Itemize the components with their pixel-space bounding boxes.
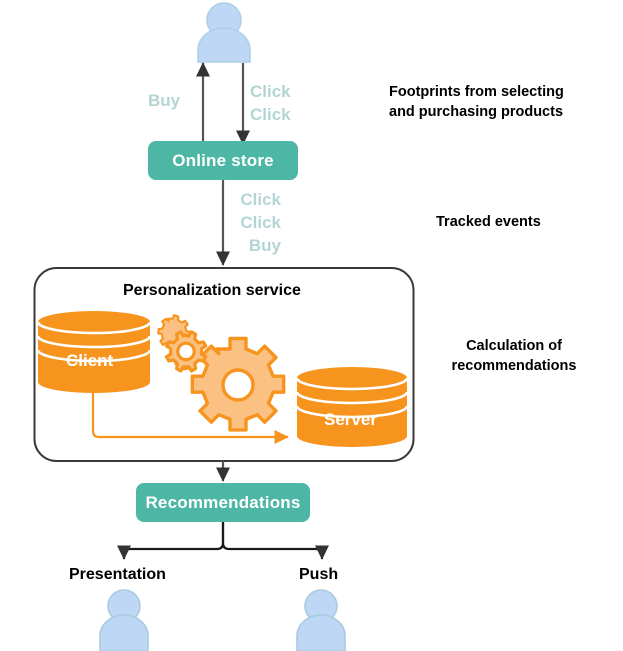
arrow-to-presentation: [124, 521, 223, 559]
customer-person-icon: [198, 3, 250, 62]
arrow-to-push: [223, 521, 322, 559]
edge-label-click-1: Click: [250, 80, 291, 103]
push-label: Push: [299, 566, 338, 584]
personalization-service-title: Personalization service: [123, 282, 301, 300]
edge-label-tracked-1: Click: [231, 188, 281, 211]
annotation-calculation: Calculation of recommendations: [424, 336, 604, 376]
online-store-label: Online store: [172, 151, 274, 171]
recommendations-label: Recommendations: [145, 493, 300, 513]
edge-label-tracked-3: Buy: [231, 234, 281, 257]
presentation-person-icon: [100, 590, 148, 651]
edge-label-tracked-2: Click: [231, 211, 281, 234]
annotation-calculation-line2: recommendations: [424, 356, 604, 376]
push-person-icon: [297, 590, 345, 651]
annotation-tracked-events: Tracked events: [436, 212, 541, 232]
server-database-label: Server: [324, 410, 377, 430]
edge-label-click-click: Click Click: [250, 80, 291, 126]
recommendations-node[interactable]: Recommendations: [136, 483, 310, 522]
client-database-label: Client: [66, 351, 113, 371]
server-database-icon: [297, 367, 407, 447]
edge-label-buy: Buy: [148, 89, 180, 112]
presentation-label: Presentation: [69, 566, 166, 584]
annotation-footprints: Footprints from selecting and purchasing…: [389, 82, 564, 122]
edge-label-tracked-events: Click Click Buy: [231, 188, 281, 257]
annotation-tracked-events-text: Tracked events: [436, 212, 541, 232]
edge-label-click-2: Click: [250, 103, 291, 126]
annotation-footprints-line2: and purchasing products: [389, 102, 564, 122]
online-store-node[interactable]: Online store: [148, 141, 298, 180]
annotation-calculation-line1: Calculation of: [424, 336, 604, 356]
diagram-canvas: Online store Recommendations Personaliza…: [0, 0, 623, 651]
annotation-footprints-line1: Footprints from selecting: [389, 82, 564, 102]
